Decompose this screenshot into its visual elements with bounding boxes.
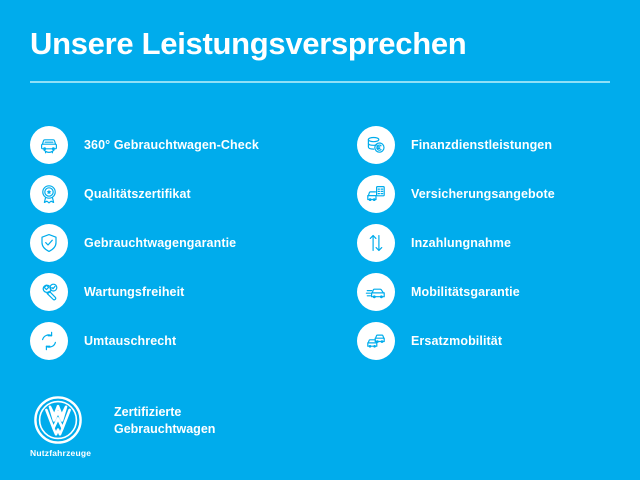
- brand-claim-line1: Zertifizierte: [114, 404, 215, 421]
- title-divider: [30, 81, 610, 83]
- volkswagen-logo: [33, 395, 83, 445]
- page-title: Unsere Leistungsversprechen: [30, 28, 610, 61]
- brand-sublabel: Nutzfahrzeuge: [30, 448, 86, 458]
- brand-claim: Zertifizierte Gebrauchtwagen: [114, 404, 215, 438]
- car-motion-icon: [357, 273, 395, 311]
- header: Unsere Leistungsversprechen: [30, 28, 610, 83]
- car-document-icon: [357, 175, 395, 213]
- brand-claim-line2: Gebrauchtwagen: [114, 421, 215, 438]
- brand-mark: Nutzfahrzeuge: [30, 395, 86, 458]
- benefit-label: Inzahlungnahme: [411, 236, 511, 250]
- two-cars-icon: [357, 322, 395, 360]
- arrows-up-down-icon: [357, 224, 395, 262]
- brand-block: Nutzfahrzeuge Zertifizierte Gebrauchtwag…: [30, 395, 215, 458]
- coins-euro-icon: [357, 126, 395, 164]
- benefits-grid: 360° Gebrauchtwagen-Check Qualitätszerti…: [0, 120, 640, 365]
- benefit-label: Finanzdienstleistungen: [411, 138, 552, 152]
- benefit-label: Mobilitätsgarantie: [411, 285, 520, 299]
- slide-root: Unsere Leistungsversprechen: [0, 0, 640, 480]
- benefit-label: Ersatzmobilität: [411, 334, 502, 348]
- benefits-column-right: Finanzdienstleistungen Versicheru: [0, 120, 357, 365]
- benefit-label: Versicherungsangebote: [411, 187, 555, 201]
